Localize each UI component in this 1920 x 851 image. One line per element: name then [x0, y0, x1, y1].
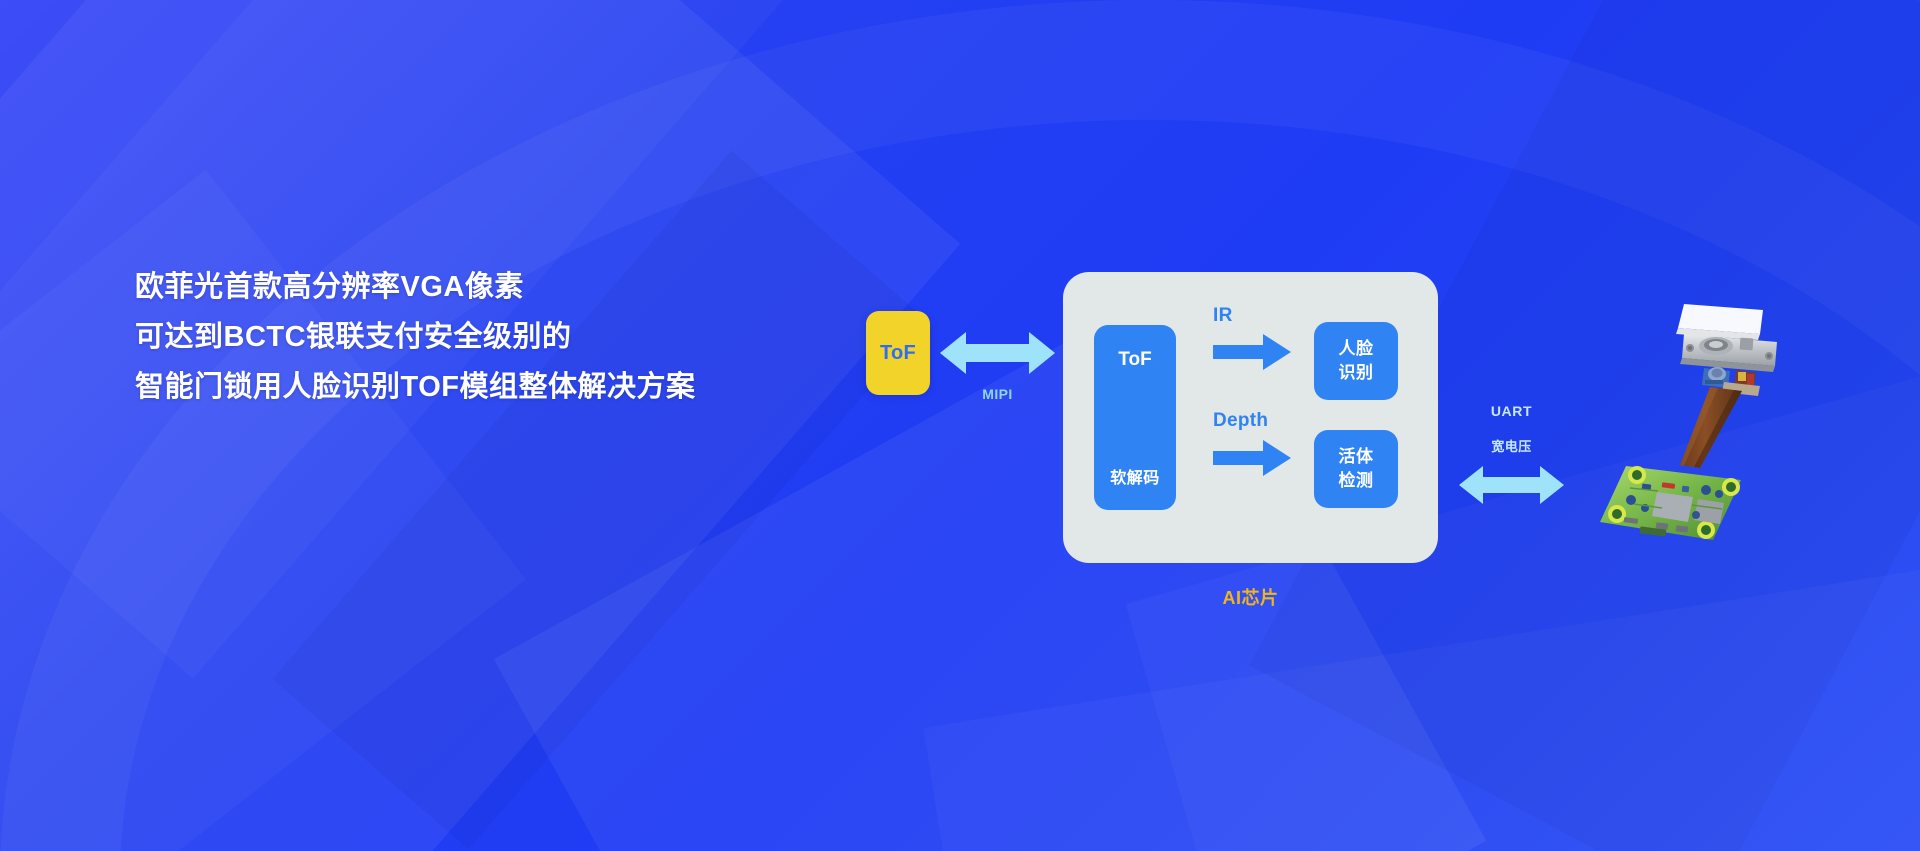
bg-ribbon-1	[0, 0, 960, 851]
camera-bracket-photo	[1676, 304, 1777, 372]
bg-ribbon-3	[272, 151, 927, 850]
headline-block: 欧菲光首款高分辨率VGA像素 可达到BCTC银联支付安全级别的 智能门锁用人脸识…	[135, 262, 895, 412]
liveness-detection-line-1: 活体	[1339, 445, 1374, 469]
double-arrow-horizontal-icon	[940, 330, 1055, 376]
arrow-right-icon-depth	[1213, 440, 1291, 476]
hardware-assembly-illustration	[1600, 290, 1920, 570]
tof-solution-banner: 欧菲光首款高分辨率VGA像素 可达到BCTC银联支付安全级别的 智能门锁用人脸识…	[0, 0, 1920, 851]
tof-core-box[interactable]: ToF 软解码	[1094, 325, 1176, 510]
liveness-detection-line-2: 检测	[1339, 469, 1374, 493]
face-recognition-line-2: 识别	[1339, 361, 1374, 385]
arrow-right-icon-ir	[1213, 334, 1291, 370]
wide-voltage-label: 宽电压	[1459, 436, 1564, 455]
tof-core-title: ToF	[1118, 349, 1151, 371]
signal-label-depth: Depth	[1213, 410, 1268, 432]
tof-core-subtitle: 软解码	[1110, 464, 1160, 488]
signal-label-ir: IR	[1213, 305, 1233, 327]
pcb-board-photo	[1600, 466, 1741, 540]
flex-cable-photo	[1680, 387, 1742, 468]
architecture-diagram: ToF MIPI ToF 软解码 IR Depth 人脸	[0, 0, 1920, 851]
headline-line-2: 可达到BCTC银联支付安全级别的	[135, 312, 895, 362]
double-arrow-horizontal-icon-uart	[1459, 464, 1564, 506]
face-recognition-line-1: 人脸	[1339, 337, 1374, 361]
uart-protocol-label: UART	[1459, 403, 1564, 419]
tof-sensor-label: ToF	[880, 342, 916, 365]
face-recognition-box[interactable]: 人脸 识别	[1314, 322, 1398, 400]
liveness-detection-box[interactable]: 活体 检测	[1314, 430, 1398, 508]
tof-sensor-box[interactable]: ToF	[866, 311, 930, 395]
ai-chip-caption: AI芯片	[1063, 584, 1438, 610]
headline-line-3: 智能门锁用人脸识别TOF模组整体解决方案	[135, 362, 895, 412]
mipi-label: MIPI	[940, 386, 1055, 402]
headline-line-1: 欧菲光首款高分辨率VGA像素	[135, 262, 895, 312]
